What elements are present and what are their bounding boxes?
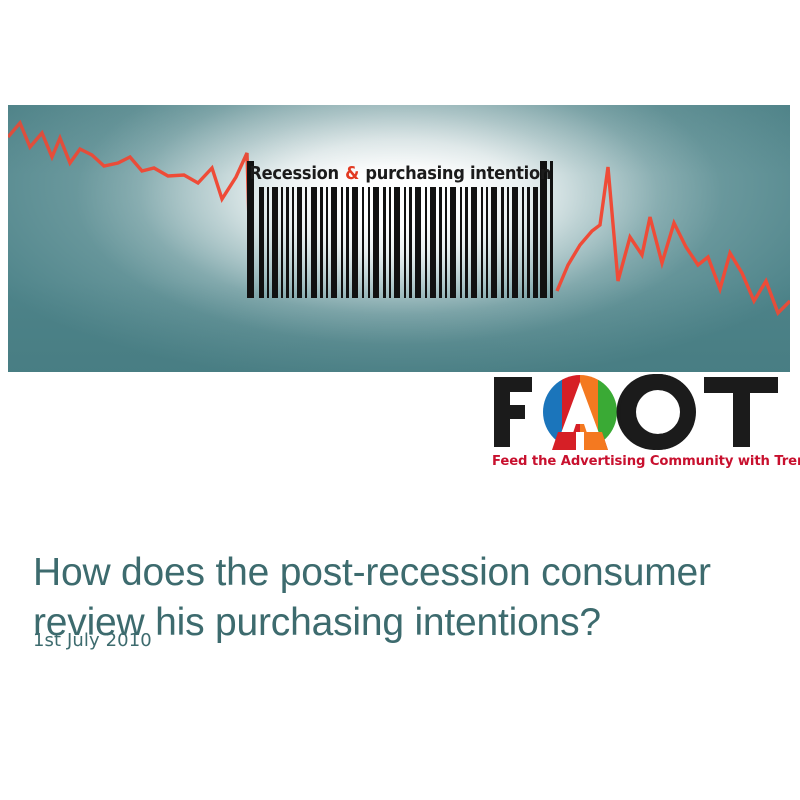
barcode-bars: [247, 187, 553, 298]
logo-letter-c: [617, 374, 702, 450]
logo-tagline: Feed the Advertising Community with Tren…: [492, 454, 792, 469]
logo-letter-t: [704, 377, 778, 447]
barcode-title-label: Recession & purchasing intention: [257, 161, 543, 187]
barcode-title-prefix: Recession: [249, 164, 344, 184]
logo-letter-f: [494, 377, 532, 447]
fact-logo: Feed the Advertising Community with Tren…: [492, 374, 792, 478]
fact-wordmark: [492, 374, 792, 450]
presentation-date: 1st July 2010: [33, 630, 152, 651]
hero-banner: Recession & purchasing intention: [8, 105, 790, 372]
barcode-title-ampersand: &: [344, 164, 360, 184]
page-title-line-1: How does the post-recession consumer: [33, 551, 711, 594]
barcode-title-suffix: purchasing intention: [360, 164, 551, 184]
barcode-graphic: Recession & purchasing intention: [247, 161, 553, 298]
logo-letter-a: [543, 375, 617, 450]
